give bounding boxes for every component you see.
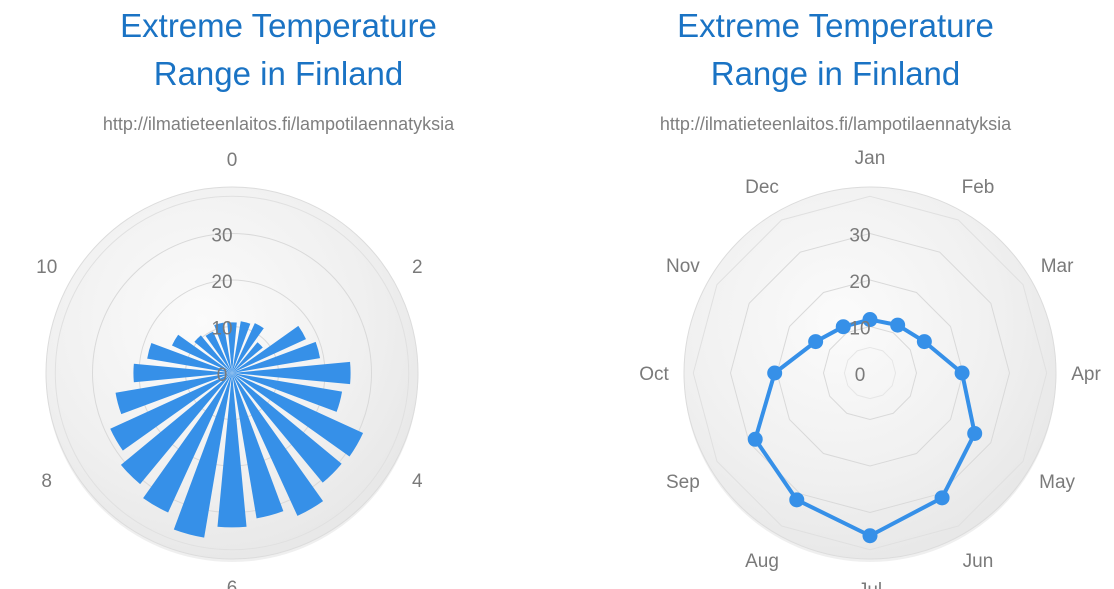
data-point-marker[interactable]: [955, 366, 970, 381]
radial-tick-label: 30: [849, 226, 870, 247]
month-tick-label: Sep: [666, 472, 700, 493]
chart-title-right-line1: Extreme Temperature: [557, 2, 1114, 50]
data-point-marker[interactable]: [767, 366, 782, 381]
month-tick-label: Aug: [745, 551, 779, 572]
charts-board: Extreme Temperature Range in Finland htt…: [0, 0, 1114, 589]
data-point-marker[interactable]: [935, 490, 950, 505]
chart-subtitle-right: http://ilmatieteenlaitos.fi/lampotilaenn…: [557, 113, 1114, 135]
month-tick-label: Nov: [666, 256, 700, 277]
month-tick-label: Jan: [855, 148, 886, 169]
radial-tick-label: 10: [211, 319, 232, 340]
chart-subtitle-left: http://ilmatieteenlaitos.fi/lampotilaenn…: [0, 113, 557, 135]
month-tick-label: Jul: [858, 580, 882, 589]
chart-title-left: Extreme Temperature Range in Finland: [0, 0, 557, 98]
month-tick-label: Oct: [639, 364, 669, 385]
polar-bar-plot-area: 02468100102030: [0, 140, 557, 589]
angular-tick-label: 6: [227, 578, 238, 589]
panel-right: Extreme Temperature Range in Finland htt…: [557, 0, 1114, 589]
chart-title-left-line1: Extreme Temperature: [0, 2, 557, 50]
chart-title-left-line2: Range in Finland: [0, 50, 557, 98]
data-point-marker[interactable]: [967, 426, 982, 441]
radial-tick-label: 0: [855, 365, 866, 386]
radial-tick-label: 10: [849, 319, 870, 340]
angular-tick-label: 2: [412, 257, 423, 278]
angular-tick-label: 4: [412, 471, 423, 492]
month-tick-label: May: [1039, 472, 1075, 493]
data-point-marker[interactable]: [789, 492, 804, 507]
month-tick-label: Mar: [1041, 256, 1074, 277]
month-tick-label: Jun: [963, 551, 994, 572]
month-tick-label: Feb: [962, 177, 995, 198]
data-point-marker[interactable]: [917, 334, 932, 349]
month-tick-label: Dec: [745, 177, 779, 198]
radial-tick-label: 20: [211, 272, 232, 293]
panel-left: Extreme Temperature Range in Finland htt…: [0, 0, 557, 589]
data-point-marker[interactable]: [808, 334, 823, 349]
chart-title-right-line2: Range in Finland: [557, 50, 1114, 98]
radial-tick-label: 30: [211, 226, 232, 247]
angular-tick-label: 8: [41, 471, 52, 492]
radial-tick-label: 20: [849, 272, 870, 293]
radial-tick-label: 0: [217, 365, 228, 386]
data-point-marker[interactable]: [890, 318, 905, 333]
angular-tick-label: 10: [36, 257, 57, 278]
chart-title-right: Extreme Temperature Range in Finland: [557, 0, 1114, 98]
polar-bar-chart: 02468100102030: [0, 140, 557, 589]
data-point-marker[interactable]: [863, 528, 878, 543]
data-point-marker[interactable]: [748, 432, 763, 447]
angular-tick-label: 0: [227, 150, 238, 171]
polar-line-plot-area: JanFebMarAprMayJunJulAugSepOctNovDec0102…: [557, 140, 1114, 589]
month-tick-label: Apr: [1071, 364, 1101, 385]
polar-line-chart: JanFebMarAprMayJunJulAugSepOctNovDec0102…: [557, 140, 1114, 589]
